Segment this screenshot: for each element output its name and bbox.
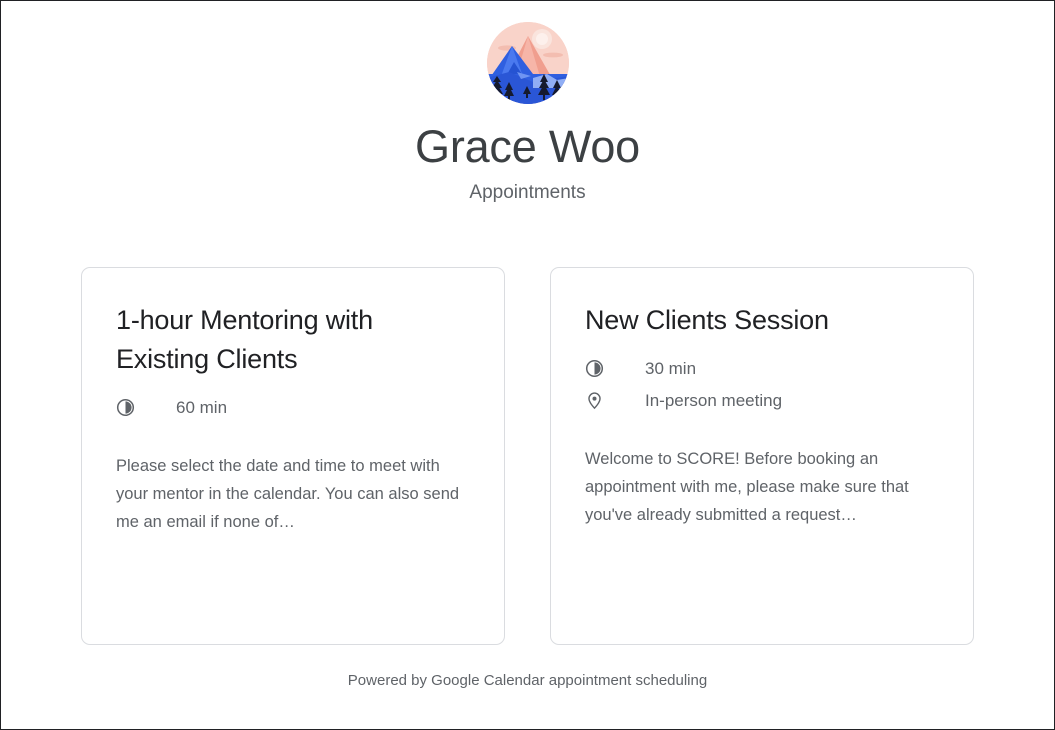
avatar	[487, 22, 569, 104]
appointment-booking-page: Grace Woo Appointments 1-hour Mentoring …	[0, 0, 1055, 730]
page-title: Grace Woo	[1, 121, 1054, 173]
footer-attribution: Powered by Google Calendar appointment s…	[1, 671, 1054, 691]
duration-icon	[585, 359, 612, 378]
card-meta-list: 60 min	[116, 393, 470, 422]
card-title: 1-hour Mentoring with Existing Clients	[116, 301, 470, 379]
card-duration-label: 60 min	[176, 397, 227, 419]
location-pin-icon	[585, 391, 612, 410]
card-title: New Clients Session	[585, 301, 939, 340]
card-duration-label: 30 min	[645, 358, 696, 380]
card-description: Please select the date and time to meet …	[116, 452, 470, 536]
card-duration-row: 30 min	[585, 354, 939, 383]
page-subtitle: Appointments	[1, 181, 1054, 205]
card-description: Welcome to SCORE! Before booking an appo…	[585, 445, 939, 529]
duration-icon	[116, 398, 143, 417]
card-location-label: In-person meeting	[645, 390, 782, 412]
page-header: Grace Woo Appointments	[1, 1, 1054, 205]
card-meta-list: 30 min In-person meeting	[585, 354, 939, 415]
appointment-types-list: 1-hour Mentoring with Existing Clients 6…	[1, 267, 1054, 645]
appointment-card-1-hour-mentoring[interactable]: 1-hour Mentoring with Existing Clients 6…	[81, 267, 505, 645]
appointment-card-new-clients-session[interactable]: New Clients Session 30 min	[550, 267, 974, 645]
card-location-row: In-person meeting	[585, 386, 939, 415]
card-duration-row: 60 min	[116, 393, 470, 422]
